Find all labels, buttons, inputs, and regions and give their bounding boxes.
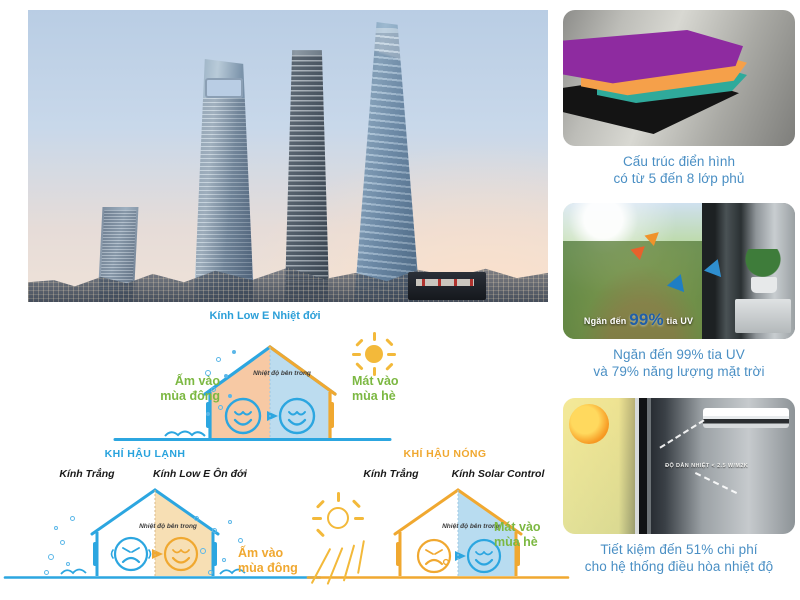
top-right-benefit-line2: mùa hè [352,389,438,404]
diagram-area: Kính Low E Nhiệt đới Nhiệt độ bên trong … [0,302,560,600]
top-left-benefit-line2: mùa đông [140,389,220,404]
sun-icon [569,404,609,444]
hot-benefit-line2: mùa hè [494,535,574,550]
uv-blocking-photo: Ngăn đến 99% tia UV [563,203,795,339]
house-cold-climate [75,484,235,584]
card-uv-caption: Ngăn đến 99% tia UV và 79% năng lượng mặ… [563,346,795,380]
snow-dot [205,370,211,376]
snow-dot [48,554,54,560]
top-left-benefit: Ấm vào mùa đông [140,374,220,404]
sun-ray [312,517,322,520]
caption-line-1: Tiết kiệm đến 51% chi phí [563,541,795,558]
sun-ray [355,362,363,370]
snow-dot [200,548,206,554]
shanghai-skyline-photo [28,10,548,302]
uv-overlay-value: 99% [629,310,664,329]
snow-dot [222,558,226,562]
heat-flow-dash-2 [695,472,737,494]
snow-dot [44,570,49,575]
sun-ray [352,500,361,509]
diagram-top-title: Kính Low E Nhiệt đới [170,310,360,322]
snow-dot [208,570,213,575]
uv-plant-pot [751,277,777,293]
uv-overlay-suffix: tia UV [667,316,694,326]
cold-benefit-line2: mùa đông [238,561,318,576]
sun-ray [355,338,363,346]
uv-cabinet [735,299,791,333]
energy-savings-photo: ĐỘ DẪN NHIỆT < 2.5 W/M2K [563,398,795,534]
top-left-benefit-line1: Ấm vào [140,374,220,389]
snow-dot [212,528,217,533]
sun-ray [352,353,361,356]
sun-ray [337,492,340,502]
snow-dot [232,350,236,354]
uv-overlay-prefix: Ngăn đến [584,316,627,326]
snow-dot [216,357,221,362]
cold-benefit-text: Ấm vào mùa đông [238,546,318,576]
swfc-aperture [205,78,243,97]
caption-line-1: Ngăn đến 99% tia UV [563,346,795,363]
snow-dot [218,405,223,410]
card-layers-caption: Cấu trúc điển hình có từ 5 đến 8 lớp phủ [563,153,795,187]
sun-icon-tropical [352,332,396,376]
card-savings-caption: Tiết kiệm đến 51% chi phí cho hệ thống đ… [563,541,795,575]
sun-core [327,507,349,529]
snow-dot [211,387,216,392]
snow-dot [238,538,243,543]
thermal-conductivity-label: ĐỘ DẪN NHIỆT < 2.5 W/M2K [665,463,748,469]
street-signboard [408,272,486,300]
card-coating-layers: Cấu trúc điển hình có từ 5 đến 8 lớp phủ [563,10,795,187]
snow-dot [228,394,232,398]
snow-dot [70,516,75,521]
top-right-benefit: Mát vào mùa hè [352,374,438,404]
sun-ray [373,332,376,341]
hot-benefit-text: Mát vào mùa hè [494,520,574,550]
air-conditioner-icon [703,408,789,428]
cold-inside-temp-label: Nhiệt độ bên trong [118,523,218,530]
card-uv-blocking: Ngăn đến 99% tia UV Ngăn đến 99% tia UV … [563,203,795,380]
snow-dot [60,540,65,545]
sun-ray [373,367,376,376]
heat-flow-dash-1 [659,420,704,449]
coating-layers-photo [563,10,795,146]
diagram-hot-title: KHÍ HẬU NÓNG [370,448,520,460]
savings-window-frame [635,398,651,534]
snow-dot [228,520,232,524]
sun-long-ray [343,544,355,581]
caption-line-2: cho hệ thống điều hòa nhiệt độ [563,558,795,575]
card-energy-savings: ĐỘ DẪN NHIỆT < 2.5 W/M2K Tiết kiệm đến 5… [563,398,795,575]
sun-ray [387,353,396,356]
sun-ray [316,500,325,509]
shanghai-world-financial-center [194,59,254,302]
uv-overlay-label: Ngăn đến 99% tia UV [584,310,693,330]
caption-line-2: có từ 5 đến 8 lớp phủ [563,170,795,187]
jin-mao-spire [306,12,308,38]
hot-left-glass-label: Kính Trắng [352,468,430,480]
cold-right-glass-label: Kính Low E Ôn đới [140,468,260,480]
sun-ray [316,529,325,538]
sun-ray [385,362,393,370]
snow-dot [54,526,58,530]
sun-ray [354,517,364,520]
sun-long-ray [357,540,365,574]
snow-dot [66,562,70,566]
diagram-cold-title: KHÍ HẬU LẠNH [65,448,225,460]
cold-left-glass-label: Kính Trắng [48,468,126,480]
snow-dot [206,412,210,416]
hot-right-glass-label: Kính Solar Control [438,468,558,480]
top-right-benefit-line1: Mát vào [352,374,438,389]
caption-line-1: Cấu trúc điển hình [563,153,795,170]
caption-line-2: và 79% năng lượng mặt trời [563,363,795,380]
layer-stack [563,24,767,134]
snow-dot [194,516,199,521]
sun-ray [385,338,393,346]
top-inside-temp-label: Nhiệt độ bên trong [232,370,332,377]
hot-benefit-line1: Mát vào [494,520,574,535]
sun-icon-hot [312,492,364,544]
snow-dot [224,374,228,378]
sun-core [365,345,383,363]
cold-benefit-line1: Ấm vào [238,546,318,561]
